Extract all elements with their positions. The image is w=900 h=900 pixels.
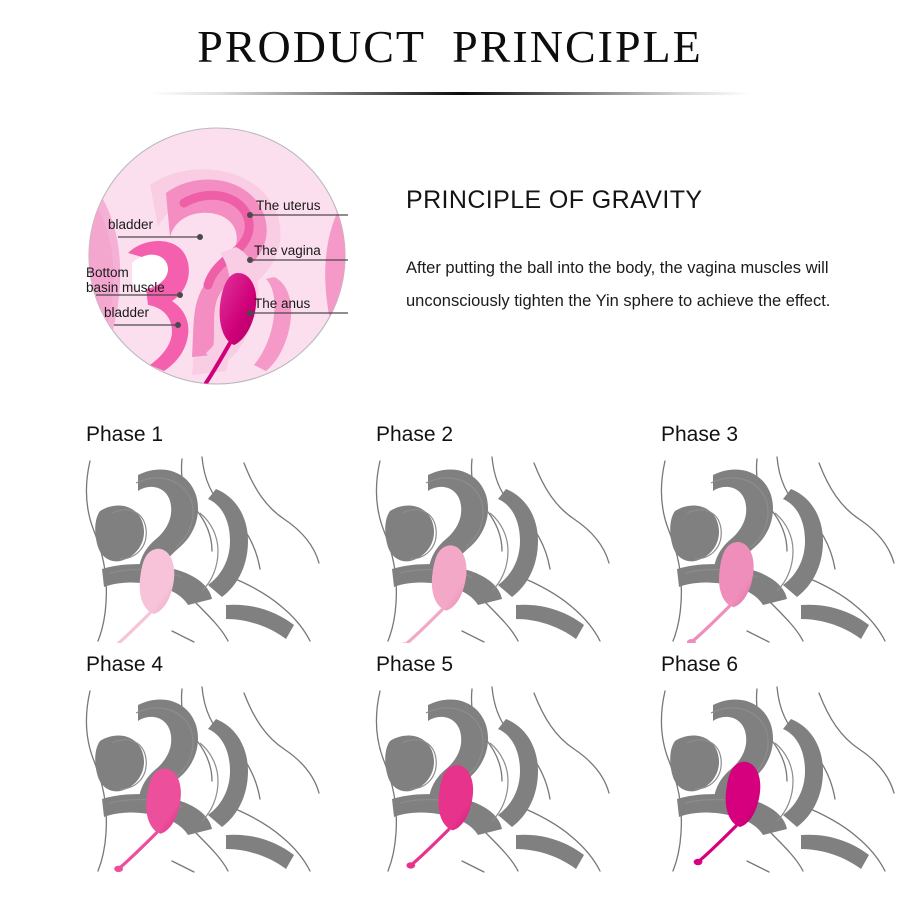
phase-illustration — [651, 683, 896, 873]
label-bladder-upper: bladder — [108, 217, 153, 232]
gravity-section-heading: PRINCIPLE OF GRAVITY — [406, 186, 702, 215]
label-the-uterus: The uterus — [256, 198, 321, 213]
phase-cell: Phase 6 — [645, 645, 900, 875]
phase-row-1: Phase 1 Phase 2 — [0, 415, 900, 645]
label-bladder-lower: bladder — [104, 305, 149, 320]
phase-cell: Phase 3 — [645, 415, 900, 645]
phase-cell: Phase 4 — [70, 645, 360, 875]
phase-illustration — [76, 683, 321, 873]
page-title: PRODUCT PRINCIPLE — [0, 22, 900, 73]
phase-illustration — [76, 453, 321, 643]
phase-cell: Phase 1 — [70, 415, 360, 645]
phase-illustration — [651, 453, 896, 643]
phase-cell: Phase 2 — [360, 415, 650, 645]
label-the-anus: The anus — [254, 296, 310, 311]
phase-label: Phase 4 — [86, 653, 163, 677]
phase-label: Phase 2 — [376, 423, 453, 447]
label-bottom-basin-muscle: Bottom basin muscle — [86, 265, 165, 295]
phase-label: Phase 6 — [661, 653, 738, 677]
gravity-section-body: After putting the ball into the body, th… — [406, 252, 846, 318]
phase-row-2: Phase 4 Phase 5 — [0, 645, 900, 875]
title-divider — [150, 92, 750, 95]
page-header: PRODUCT PRINCIPLE — [0, 22, 900, 73]
phase-grid: Phase 1 Phase 2 — [0, 415, 900, 875]
phase-illustration — [366, 683, 611, 873]
phase-illustration — [366, 453, 611, 643]
phase-label: Phase 5 — [376, 653, 453, 677]
label-the-vagina: The vagina — [254, 243, 321, 258]
phase-label: Phase 1 — [86, 423, 163, 447]
phase-label: Phase 3 — [661, 423, 738, 447]
phase-cell: Phase 5 — [360, 645, 650, 875]
